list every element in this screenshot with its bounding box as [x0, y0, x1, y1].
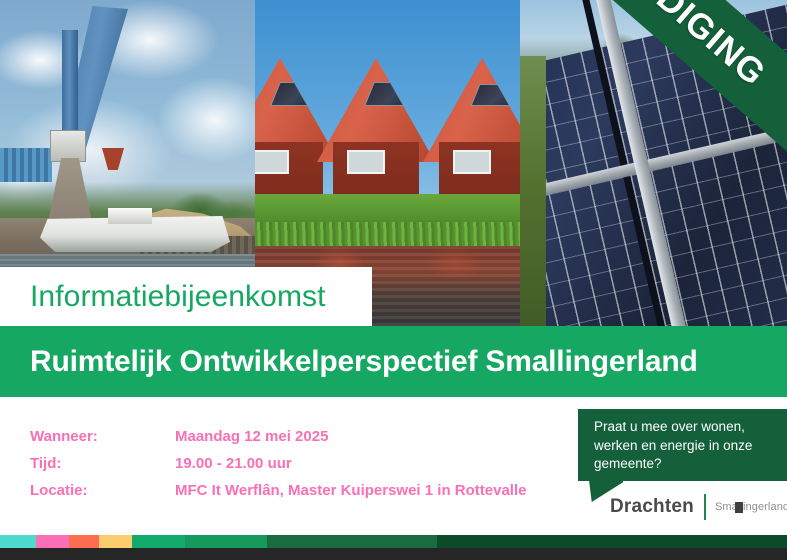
event-details: Wanneer: Maandag 12 mei 2025 Tijd: 19.00… — [30, 428, 550, 509]
subtitle-box: Informatiebijeenkomst — [0, 267, 372, 326]
page-title: Ruimtelijk Ontwikkelperspectief Smalling… — [30, 345, 698, 379]
detail-value: MFC It Werflân, Master Kuiperswei 1 in R… — [175, 482, 526, 499]
footer-bar — [0, 548, 787, 560]
house-gable — [333, 142, 419, 198]
solar-edge-grass — [520, 56, 546, 326]
house-middle — [317, 58, 435, 198]
house-right — [423, 58, 520, 198]
logo-primary-text: Drachten — [610, 496, 694, 518]
gable-window — [255, 150, 289, 174]
speech-bubble-text: Praat u mee over wonen, werken en energi… — [594, 418, 779, 474]
logo-secondary-label: Smallingerland — [715, 501, 787, 513]
color-strip-segment-1 — [36, 535, 69, 548]
color-strip-segment-4 — [132, 535, 185, 548]
harbour-shed — [0, 148, 52, 182]
title-band: Ruimtelijk Ontwikkelperspectief Smalling… — [0, 326, 787, 397]
color-strip-segment-5 — [185, 535, 267, 548]
detail-label: Tijd: — [30, 455, 175, 472]
roof-solar-panel — [364, 82, 420, 106]
detail-label: Locatie: — [30, 482, 175, 499]
gable-window — [347, 150, 385, 174]
color-strip-segment-7 — [437, 535, 787, 548]
municipality-logo: Drachten Smallingerland — [610, 494, 787, 520]
house-gable — [439, 142, 520, 198]
gable-window — [453, 150, 491, 174]
roof-solar-panel — [270, 82, 322, 106]
color-strip-segment-3 — [99, 535, 132, 548]
roof-solar-panel — [471, 84, 520, 106]
detail-row-wanneer: Wanneer: Maandag 12 mei 2025 — [30, 428, 550, 455]
detail-value: 19.00 - 21.00 uur — [175, 455, 292, 472]
color-strip-segment-2 — [69, 535, 99, 548]
logo-divider — [704, 494, 706, 520]
invitation-flyer: UITNODIGING Informatiebijeenkomst Ruimte… — [0, 0, 787, 560]
detail-label: Wanneer: — [30, 428, 175, 445]
color-strip-segment-6 — [267, 535, 437, 548]
logo-accent-mark — [735, 502, 743, 513]
logo-secondary-text: Smallingerland — [715, 501, 787, 513]
detail-value: Maandag 12 mei 2025 — [175, 428, 328, 445]
house-gable — [255, 142, 323, 198]
question-speech-bubble: Praat u mee over wonen, werken en energi… — [578, 409, 787, 481]
detail-row-tijd: Tijd: 19.00 - 21.00 uur — [30, 455, 550, 482]
subtitle-text: Informatiebijeenkomst — [30, 280, 326, 314]
crane-operator-cabin — [50, 130, 86, 162]
color-strip-segment-0 — [0, 535, 36, 548]
barge-cabin — [108, 208, 152, 224]
brand-color-strip — [0, 535, 787, 548]
detail-row-locatie: Locatie: MFC It Werflân, Master Kuipersw… — [30, 482, 550, 509]
